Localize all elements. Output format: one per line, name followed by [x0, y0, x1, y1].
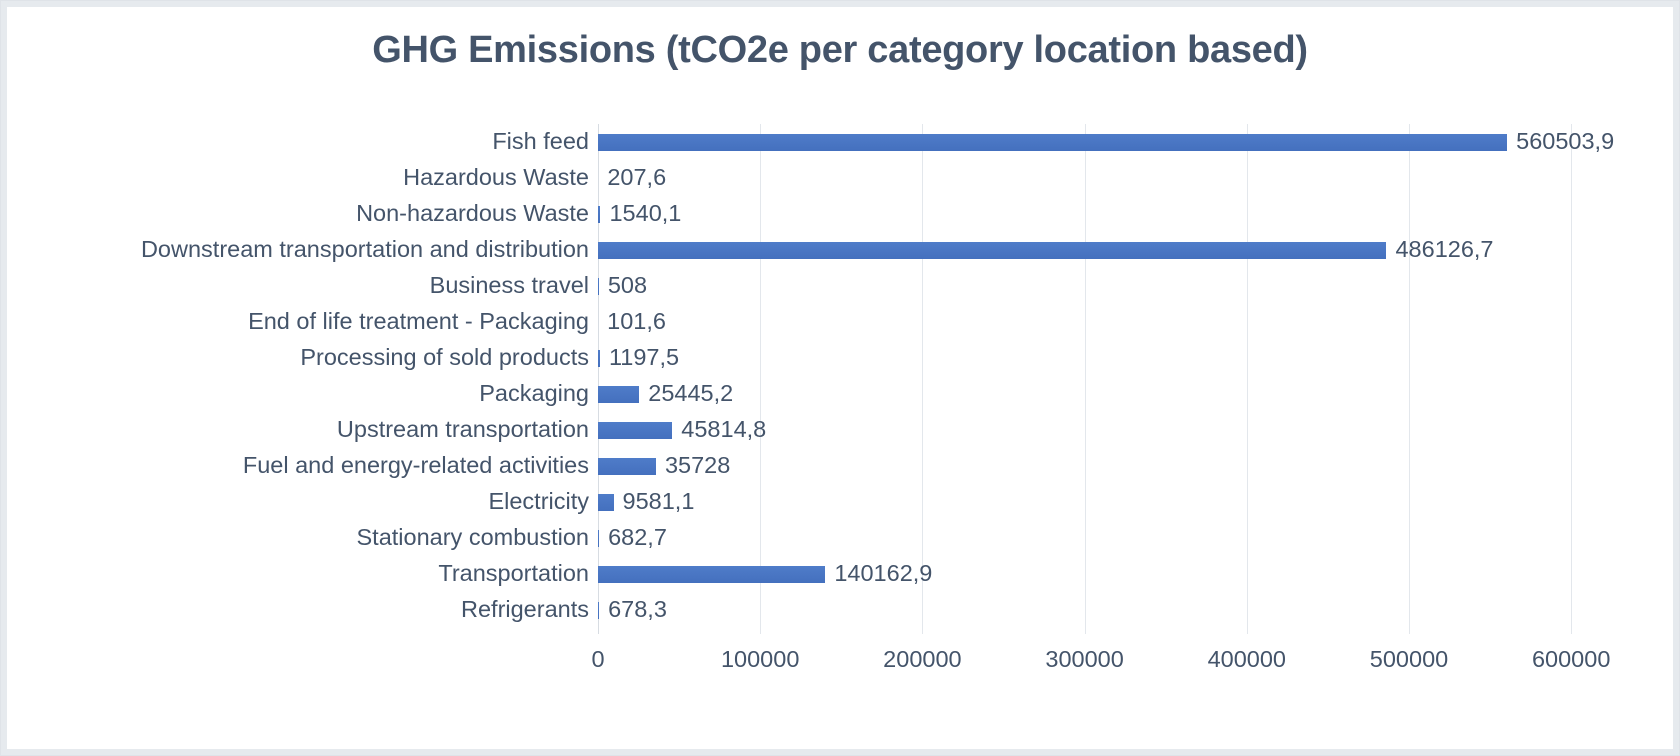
bar-value-label: 508 [608, 274, 647, 298]
bar-container: 682,7 [598, 520, 1671, 556]
bar-container: 35728 [598, 448, 1671, 484]
chart-card: GHG Emissions (tCO2e per category locati… [11, 11, 1669, 745]
category-label: Transportation [11, 562, 589, 586]
bar-container: 1197,5 [598, 340, 1671, 376]
category-label: Fish feed [11, 130, 589, 154]
bar-value-label: 560503,9 [1516, 130, 1614, 154]
chart-frame: GHG Emissions (tCO2e per category locati… [0, 0, 1680, 756]
bar-row: Business travel508 [11, 268, 1671, 304]
category-label: Downstream transportation and distributi… [11, 238, 589, 262]
bar-value-label: 45814,8 [681, 418, 766, 442]
category-label: Refrigerants [11, 598, 589, 622]
x-tick-label: 0 [591, 646, 604, 673]
bar-value-label: 207,6 [607, 166, 666, 190]
category-label: Electricity [11, 490, 589, 514]
bar[interactable] [598, 566, 825, 583]
bar-row: Transportation140162,9 [11, 556, 1671, 592]
category-label: Non-hazardous Waste [11, 202, 589, 226]
bar[interactable] [598, 350, 600, 367]
bar-container: 508 [598, 268, 1671, 304]
bar-value-label: 486126,7 [1395, 238, 1493, 262]
bar-value-label: 1540,1 [609, 202, 681, 226]
bar[interactable] [598, 134, 1507, 151]
bar-row: Upstream transportation45814,8 [11, 412, 1671, 448]
bar[interactable] [598, 530, 599, 547]
bar-row: Electricity9581,1 [11, 484, 1671, 520]
bar-container: 140162,9 [598, 556, 1671, 592]
bar-row: Processing of sold products1197,5 [11, 340, 1671, 376]
category-label: Packaging [11, 382, 589, 406]
category-label: Fuel and energy-related activities [11, 454, 589, 478]
bar-container: 560503,9 [598, 124, 1671, 160]
bar-container: 101,6 [598, 304, 1671, 340]
bar-value-label: 101,6 [607, 310, 666, 334]
x-tick-label: 600000 [1532, 646, 1610, 673]
bar-container: 207,6 [598, 160, 1671, 196]
category-label: End of life treatment - Packaging [11, 310, 589, 334]
bar[interactable] [598, 206, 600, 223]
bar-row: Hazardous Waste207,6 [11, 160, 1671, 196]
bar[interactable] [598, 458, 656, 475]
bar-value-label: 1197,5 [609, 346, 679, 370]
x-tick-label: 500000 [1370, 646, 1448, 673]
category-label: Processing of sold products [11, 346, 589, 370]
bar-row: Packaging25445,2 [11, 376, 1671, 412]
bar-row: Refrigerants678,3 [11, 592, 1671, 628]
bar[interactable] [598, 278, 599, 295]
plot-area: Fish feed560503,9Hazardous Waste207,6Non… [11, 116, 1671, 646]
x-tick-label: 300000 [1045, 646, 1123, 673]
bar-row: End of life treatment - Packaging101,6 [11, 304, 1671, 340]
bar-container: 486126,7 [598, 232, 1671, 268]
bar-container: 45814,8 [598, 412, 1671, 448]
bar-row: Downstream transportation and distributi… [11, 232, 1671, 268]
category-label: Stationary combustion [11, 526, 589, 550]
category-label: Upstream transportation [11, 418, 589, 442]
category-label: Hazardous Waste [11, 166, 589, 190]
page-title: GHG Emissions (tCO2e per category locati… [11, 29, 1669, 72]
bar-container: 9581,1 [598, 484, 1671, 520]
bar-value-label: 682,7 [608, 526, 667, 550]
bar-value-label: 140162,9 [834, 562, 932, 586]
bar[interactable] [598, 494, 614, 511]
bar-row: Fish feed560503,9 [11, 124, 1671, 160]
bar-value-label: 25445,2 [648, 382, 733, 406]
x-tick-label: 100000 [721, 646, 799, 673]
bar-rows: Fish feed560503,9Hazardous Waste207,6Non… [11, 124, 1671, 628]
bar[interactable] [598, 422, 672, 439]
bar-value-label: 35728 [665, 454, 730, 478]
x-tick-label: 400000 [1208, 646, 1286, 673]
bar-container: 1540,1 [598, 196, 1671, 232]
bar[interactable] [598, 602, 599, 619]
x-tick-label: 200000 [883, 646, 961, 673]
category-label: Business travel [11, 274, 589, 298]
bar-container: 678,3 [598, 592, 1671, 628]
bar-row: Stationary combustion682,7 [11, 520, 1671, 556]
bar-value-label: 678,3 [608, 598, 667, 622]
bar[interactable] [598, 386, 639, 403]
bar-container: 25445,2 [598, 376, 1671, 412]
bar[interactable] [598, 242, 1386, 259]
bar-row: Non-hazardous Waste1540,1 [11, 196, 1671, 232]
bar-row: Fuel and energy-related activities35728 [11, 448, 1671, 484]
x-axis: 0100000200000300000400000500000600000 [11, 642, 1671, 686]
bar-value-label: 9581,1 [623, 490, 695, 514]
